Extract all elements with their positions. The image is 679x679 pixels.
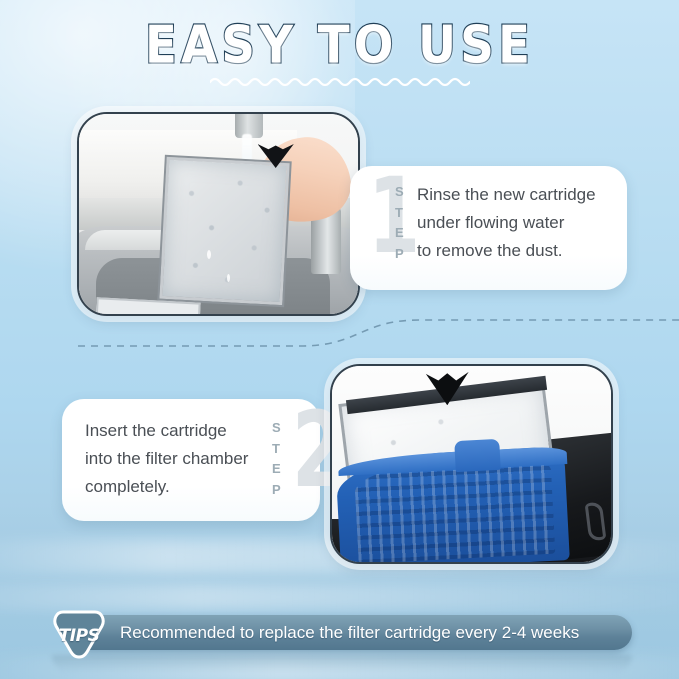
step-2-photo [330, 364, 613, 564]
step-word-letter: T [272, 439, 281, 460]
step-word-letter: S [395, 182, 404, 203]
step-1-description: Rinse the new cartridge under flowing wa… [417, 181, 596, 265]
step-word-letter: T [395, 203, 404, 224]
chamber-handle [454, 439, 500, 473]
step-2-line: Insert the cartridge [85, 417, 248, 445]
step-1-line: Rinse the new cartridge [417, 181, 596, 209]
step-1-photo-image [79, 114, 358, 314]
step-2-description: Insert the cartridge into the filter cha… [85, 417, 248, 501]
page-title: EASY TO USE [0, 20, 679, 64]
water-drip [227, 274, 230, 282]
step-1-photo [77, 112, 360, 316]
step-word-letter: P [272, 480, 281, 501]
step-word-letter: S [272, 418, 281, 439]
step-1-line: under flowing water [417, 209, 596, 237]
tips-bar: Recommended to replace the filter cartri… [72, 615, 632, 650]
infographic-canvas: EASY TO USE [0, 0, 679, 679]
step-2-line: into the filter chamber [85, 445, 248, 473]
tips-badge-label: TIPS [50, 608, 108, 660]
tips-bar-reflection [52, 655, 632, 673]
step-word-letter: E [272, 459, 281, 480]
step-2-line: completely. [85, 473, 248, 501]
housing-marking [585, 499, 606, 543]
step-1-step-word: S T E P [395, 182, 404, 264]
background-cloud-band-2 [0, 584, 679, 610]
step-word-letter: E [395, 223, 404, 244]
cartridge-carbon-texture [166, 164, 282, 298]
page-title-text: EASY TO USE [145, 20, 534, 72]
tips-text: Recommended to replace the filter cartri… [120, 615, 616, 650]
wavy-underline-icon [210, 74, 470, 88]
step-2-step-word: S T E P [272, 418, 281, 500]
step-1-line: to remove the dust. [417, 237, 596, 265]
step-2-photo-image [332, 366, 611, 562]
chamber-slot-grid [354, 458, 555, 564]
filter-cartridge [159, 157, 289, 305]
step-word-letter: P [395, 244, 404, 265]
